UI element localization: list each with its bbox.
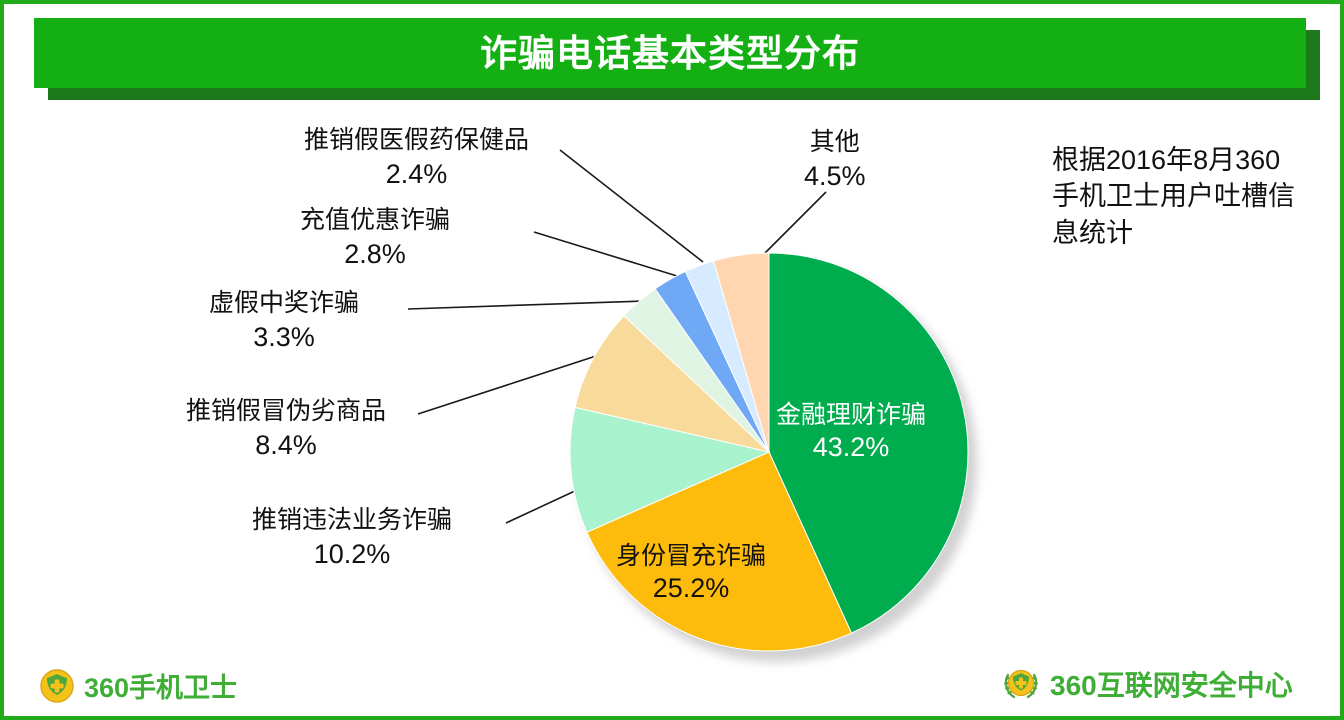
360-wreath-seal-icon: [1002, 665, 1040, 703]
footer-logo-mobile-guard: 360手机卫士: [40, 666, 237, 705]
slice-name: 推销假冒伪劣商品: [186, 395, 386, 428]
slice-value: 43.2%: [776, 431, 926, 465]
slice-name: 充值优惠诈骗: [300, 204, 450, 237]
slice-name: 虚假中奖诈骗: [209, 287, 359, 320]
slice-value: 3.3%: [209, 320, 359, 355]
leader-line-qi-ta: [764, 192, 826, 254]
slice-name: 身份冒充诈骗: [616, 541, 766, 572]
pie-callout-tuixiao-jiayi-jiayao: 推销假医假药保健品 2.4%: [304, 124, 529, 192]
slice-value: 2.4%: [304, 157, 529, 192]
title-banner: 诈骗电话基本类型分布: [34, 18, 1306, 88]
source-note: 根据2016年8月360手机卫士用户吐槽信息统计: [1052, 142, 1302, 251]
slice-name: 金融理财诈骗: [776, 400, 926, 431]
pie-callout-jiamao-weilie: 推销假冒伪劣商品 8.4%: [186, 395, 386, 463]
footer-logo-security-center: 360互联网安全中心: [1002, 664, 1293, 704]
pie-callout-qita: 其他 4.5%: [804, 126, 866, 194]
infographic-page: 诈骗电话基本类型分布 金融理财诈骗 43.2% 身份冒充诈骗 25.2% 推销假…: [0, 0, 1344, 720]
slice-name: 其他: [804, 126, 866, 159]
pie-callout-weifa-yewu: 推销违法业务诈骗 10.2%: [252, 504, 452, 572]
pie-slice-label-jinrong: 金融理财诈骗 43.2%: [776, 400, 926, 465]
slice-value: 8.4%: [186, 428, 386, 463]
slice-name: 推销假医假药保健品: [304, 124, 529, 157]
slice-value: 10.2%: [252, 537, 452, 572]
pie-slice-label-shenfen: 身份冒充诈骗 25.2%: [616, 541, 766, 606]
slice-name: 推销违法业务诈骗: [252, 504, 452, 537]
leader-line-tui-xiao-jia-yi: [560, 150, 703, 262]
slice-value: 4.5%: [804, 159, 866, 194]
pie-callout-xujia-zhongjiang: 虚假中奖诈骗 3.3%: [209, 287, 359, 355]
360-shield-icon: [40, 669, 74, 703]
pie-callout-chongzhi-youhui: 充值优惠诈骗 2.8%: [300, 204, 450, 272]
slice-value: 25.2%: [616, 572, 766, 606]
page-title: 诈骗电话基本类型分布: [480, 35, 860, 72]
footer-logo-label: 360手机卫士: [84, 666, 237, 705]
slice-value: 2.8%: [300, 237, 450, 272]
footer-logo-label: 360互联网安全中心: [1050, 664, 1293, 704]
